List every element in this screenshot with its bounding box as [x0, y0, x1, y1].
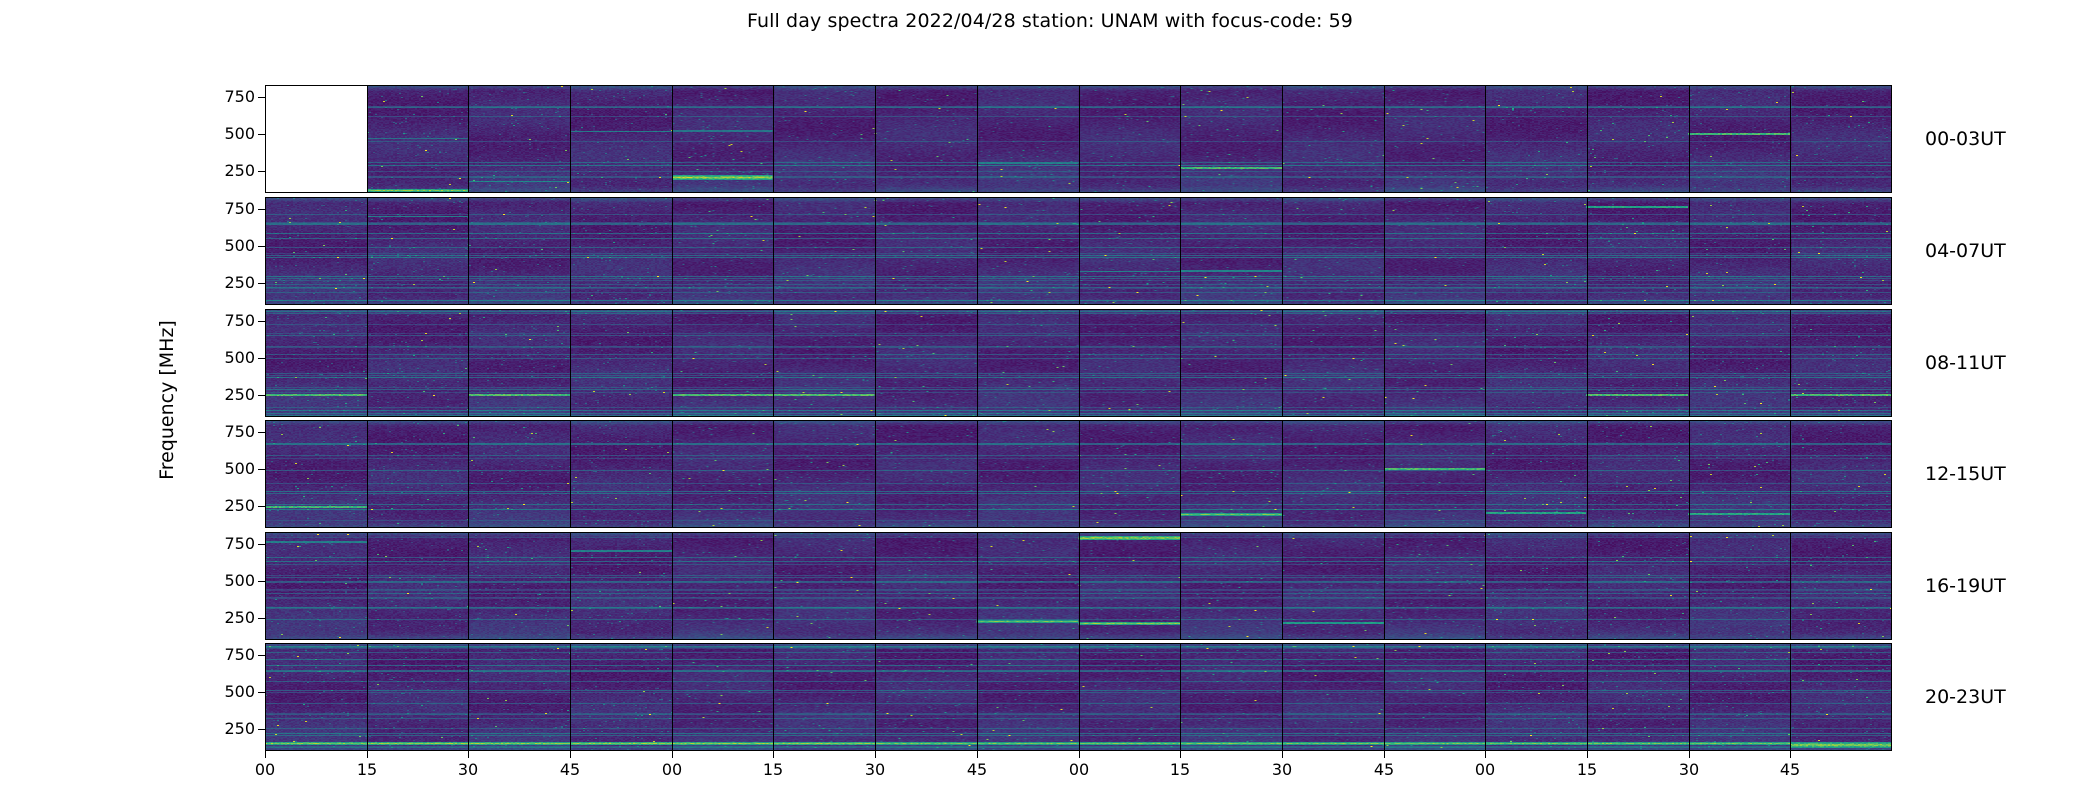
- x-tick-label: 00: [647, 761, 697, 779]
- y-tick-label: 250: [197, 721, 255, 737]
- y-tick-mark: [258, 283, 265, 284]
- y-tick-mark: [258, 209, 265, 210]
- y-tick-mark: [258, 321, 265, 322]
- x-tick-label: 30: [443, 761, 493, 779]
- x-tick-mark: [773, 751, 774, 758]
- x-tick-label: 45: [952, 761, 1002, 779]
- x-tick-mark: [1689, 751, 1690, 758]
- y-tick-mark: [258, 692, 265, 693]
- y-tick-label: 750: [197, 647, 255, 663]
- y-tick-label: 500: [197, 126, 255, 142]
- y-tick-mark: [258, 618, 265, 619]
- x-tick-label: 30: [1664, 761, 1714, 779]
- spectrogram-image: [265, 420, 1892, 528]
- x-tick-mark: [1180, 751, 1181, 758]
- x-tick-mark: [1587, 751, 1588, 758]
- x-tick-label: 15: [748, 761, 798, 779]
- x-tick-mark: [875, 751, 876, 758]
- y-tick-mark: [258, 655, 265, 656]
- y-tick-mark: [258, 134, 265, 135]
- row-label-20-23ut: 20-23UT: [1925, 687, 2006, 707]
- y-tick-label: 500: [197, 350, 255, 366]
- y-tick-mark: [258, 97, 265, 98]
- y-tick-label: 750: [197, 89, 255, 105]
- y-tick-mark: [258, 171, 265, 172]
- y-tick-mark: [258, 544, 265, 545]
- y-tick-label: 250: [197, 163, 255, 179]
- row-label-12-15ut: 12-15UT: [1925, 464, 2006, 484]
- x-tick-mark: [672, 751, 673, 758]
- row-label-16-19ut: 16-19UT: [1925, 576, 2006, 596]
- y-tick-label: 250: [197, 498, 255, 514]
- x-tick-mark: [367, 751, 368, 758]
- spectrogram-image: [265, 643, 1892, 751]
- y-tick-mark: [258, 581, 265, 582]
- spectrogram-row-20-23ut: [265, 643, 1892, 751]
- row-label-08-11ut: 08-11UT: [1925, 353, 2006, 373]
- y-axis-label: Frequency [MHz]: [156, 85, 182, 715]
- x-tick-label: 15: [1562, 761, 1612, 779]
- row-label-04-07ut: 04-07UT: [1925, 241, 2006, 261]
- spectrogram-row-16-19ut: [265, 532, 1892, 640]
- x-tick-label: 00: [1460, 761, 1510, 779]
- x-tick-label: 15: [1155, 761, 1205, 779]
- spectrogram-row-08-11ut: [265, 309, 1892, 417]
- y-tick-label: 750: [197, 536, 255, 552]
- y-tick-mark: [258, 395, 265, 396]
- x-tick-mark: [265, 751, 266, 758]
- spectrogram-figure: Full day spectra 2022/04/28 station: UNA…: [0, 0, 2100, 800]
- y-tick-mark: [258, 432, 265, 433]
- x-tick-label: 00: [240, 761, 290, 779]
- y-tick-mark: [258, 358, 265, 359]
- y-tick-label: 250: [197, 610, 255, 626]
- y-tick-label: 250: [197, 275, 255, 291]
- x-tick-mark: [468, 751, 469, 758]
- spectrogram-row-04-07ut: [265, 197, 1892, 305]
- y-tick-label: 500: [197, 573, 255, 589]
- y-tick-label: 750: [197, 424, 255, 440]
- y-tick-label: 750: [197, 201, 255, 217]
- x-tick-mark: [570, 751, 571, 758]
- x-tick-label: 15: [342, 761, 392, 779]
- x-tick-mark: [1485, 751, 1486, 758]
- spectrogram-row-00-03ut: [265, 85, 1892, 193]
- row-label-00-03ut: 00-03UT: [1925, 129, 2006, 149]
- x-tick-label: 45: [545, 761, 595, 779]
- x-tick-label: 30: [1257, 761, 1307, 779]
- x-tick-label: 45: [1359, 761, 1409, 779]
- y-tick-mark: [258, 506, 265, 507]
- y-tick-mark: [258, 729, 265, 730]
- x-tick-mark: [1790, 751, 1791, 758]
- x-tick-label: 45: [1765, 761, 1815, 779]
- spectrogram-image: [265, 197, 1892, 305]
- y-tick-label: 250: [197, 387, 255, 403]
- spectrogram-image: [265, 532, 1892, 640]
- x-tick-label: 00: [1054, 761, 1104, 779]
- y-tick-mark: [258, 246, 265, 247]
- spectrogram-image: [265, 309, 1892, 417]
- y-tick-label: 750: [197, 313, 255, 329]
- x-tick-mark: [1079, 751, 1080, 758]
- spectrogram-row-12-15ut: [265, 420, 1892, 528]
- page-title: Full day spectra 2022/04/28 station: UNA…: [0, 10, 2100, 32]
- x-tick-mark: [1282, 751, 1283, 758]
- x-tick-mark: [977, 751, 978, 758]
- y-tick-label: 500: [197, 684, 255, 700]
- y-tick-label: 500: [197, 238, 255, 254]
- y-tick-label: 500: [197, 461, 255, 477]
- x-tick-mark: [1384, 751, 1385, 758]
- spectrogram-image: [265, 85, 1892, 193]
- x-tick-label: 30: [850, 761, 900, 779]
- y-tick-mark: [258, 469, 265, 470]
